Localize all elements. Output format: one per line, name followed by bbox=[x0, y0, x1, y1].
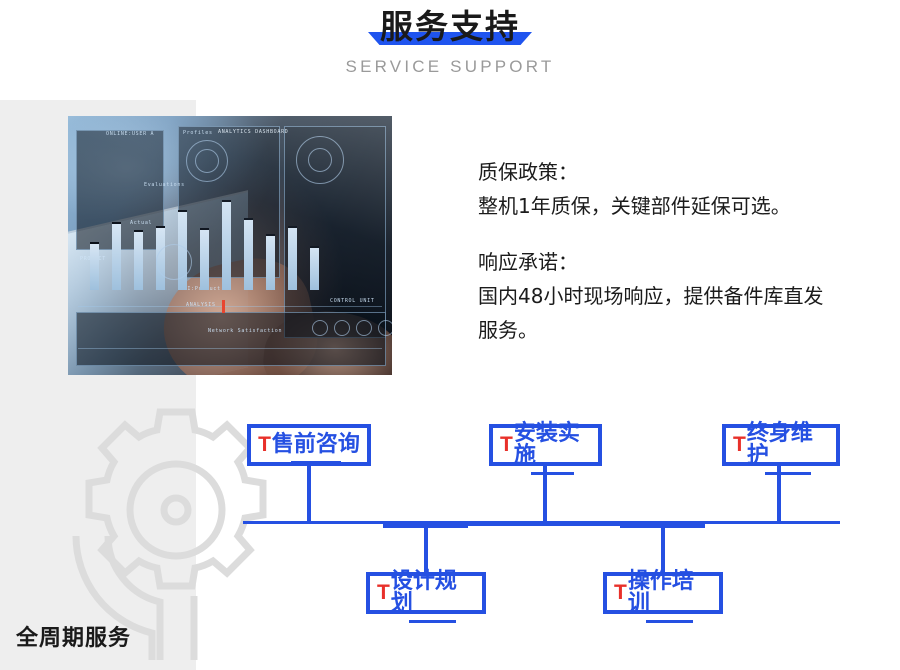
hud-bar-chart bbox=[90, 182, 376, 290]
hud-bar bbox=[310, 246, 319, 290]
diagram-node-operation-training[interactable]: T 操作培训 bbox=[603, 572, 723, 614]
diagram-node-presales[interactable]: T 售前咨询 bbox=[247, 424, 371, 466]
response-body-line-1: 国内48小时现场响应，提供备件库直发 bbox=[478, 279, 878, 313]
hud-bar bbox=[244, 218, 253, 290]
response-heading: 响应承诺： bbox=[478, 245, 878, 279]
diagram-node-installation[interactable]: T 安装实施 bbox=[489, 424, 602, 466]
connector-operation-training bbox=[661, 523, 665, 572]
hud-label-online: ONLINE:USER A bbox=[106, 131, 154, 137]
analytics-dashboard-photo: ONLINE:USER A Profiles ANALYTICS DASHBOA… bbox=[68, 116, 392, 375]
hud-divider bbox=[78, 348, 382, 349]
connector-lifetime-maintenance bbox=[777, 466, 781, 522]
node-prefix-icon: T bbox=[614, 582, 627, 603]
hud-button-next bbox=[378, 320, 392, 336]
connector-presales bbox=[307, 466, 311, 522]
hud-divider bbox=[78, 306, 382, 307]
warranty-body: 整机1年质保，关键部件延保可选。 bbox=[478, 189, 878, 223]
hud-label-analysis: ANALYSIS bbox=[186, 302, 216, 308]
hud-bar bbox=[266, 234, 275, 290]
warranty-heading: 质保政策： bbox=[478, 155, 878, 189]
page-subtitle: SERVICE SUPPORT bbox=[0, 57, 900, 77]
hud-gauge-3 bbox=[156, 244, 192, 280]
diagram-spine-segment-mid bbox=[468, 521, 620, 526]
info-spacer bbox=[478, 223, 878, 245]
diagram-node-design-planning[interactable]: T 设计规划 bbox=[366, 572, 486, 614]
hud-transport-controls bbox=[312, 320, 392, 336]
service-support-page: 服务支持 SERVICE SUPPORT ONLINE:USER A Profi… bbox=[0, 0, 900, 670]
node-prefix-icon: T bbox=[733, 434, 746, 455]
node-label: 操作培训 bbox=[628, 571, 712, 615]
hud-bar bbox=[90, 242, 99, 290]
node-label: 设计规划 bbox=[391, 571, 475, 615]
hud-label-analytics: ANALYTICS DASHBOARD bbox=[218, 129, 289, 135]
title-wrap: 服务支持 bbox=[380, 6, 520, 48]
connector-installation bbox=[543, 466, 547, 522]
hud-label-network: Network Satisfaction bbox=[208, 328, 282, 334]
hud-button-play bbox=[356, 320, 372, 336]
hud-bar bbox=[222, 200, 231, 290]
service-info-block: 质保政策： 整机1年质保，关键部件延保可选。 响应承诺： 国内48小时现场响应，… bbox=[478, 155, 878, 347]
diagram-node-lifetime-maintenance[interactable]: T 终身维护 bbox=[722, 424, 840, 466]
page-header: 服务支持 SERVICE SUPPORT bbox=[0, 0, 900, 100]
hud-bar bbox=[200, 228, 209, 290]
footer-label: 全周期服务 bbox=[16, 620, 131, 652]
node-prefix-icon: T bbox=[500, 434, 513, 455]
hud-button-prev bbox=[312, 320, 328, 336]
node-label: 终身维护 bbox=[747, 423, 829, 467]
connector-design-planning bbox=[424, 523, 428, 572]
response-body-line-2: 服务。 bbox=[478, 313, 878, 347]
service-lifecycle-diagram: T 售前咨询 T 安装实施 T 终身维护 T 设计规划 T 操作培训 bbox=[0, 400, 900, 670]
hud-bar bbox=[112, 222, 121, 290]
node-prefix-icon: T bbox=[377, 582, 390, 603]
hud-gauge-1-inner bbox=[195, 149, 219, 173]
node-prefix-icon: T bbox=[258, 434, 271, 455]
page-title: 服务支持 bbox=[380, 6, 520, 48]
node-label: 安装实施 bbox=[514, 423, 591, 467]
node-label: 售前咨询 bbox=[272, 434, 360, 456]
hud-button-up bbox=[334, 320, 350, 336]
hud-label-control-unit: CONTROL UNIT bbox=[330, 298, 375, 304]
hud-label-profiles: Profiles bbox=[183, 130, 213, 136]
hud-red-marker bbox=[222, 300, 225, 313]
hud-gauge-2-inner bbox=[308, 148, 332, 172]
hud-bar bbox=[288, 226, 297, 290]
hud-bar bbox=[134, 230, 143, 290]
